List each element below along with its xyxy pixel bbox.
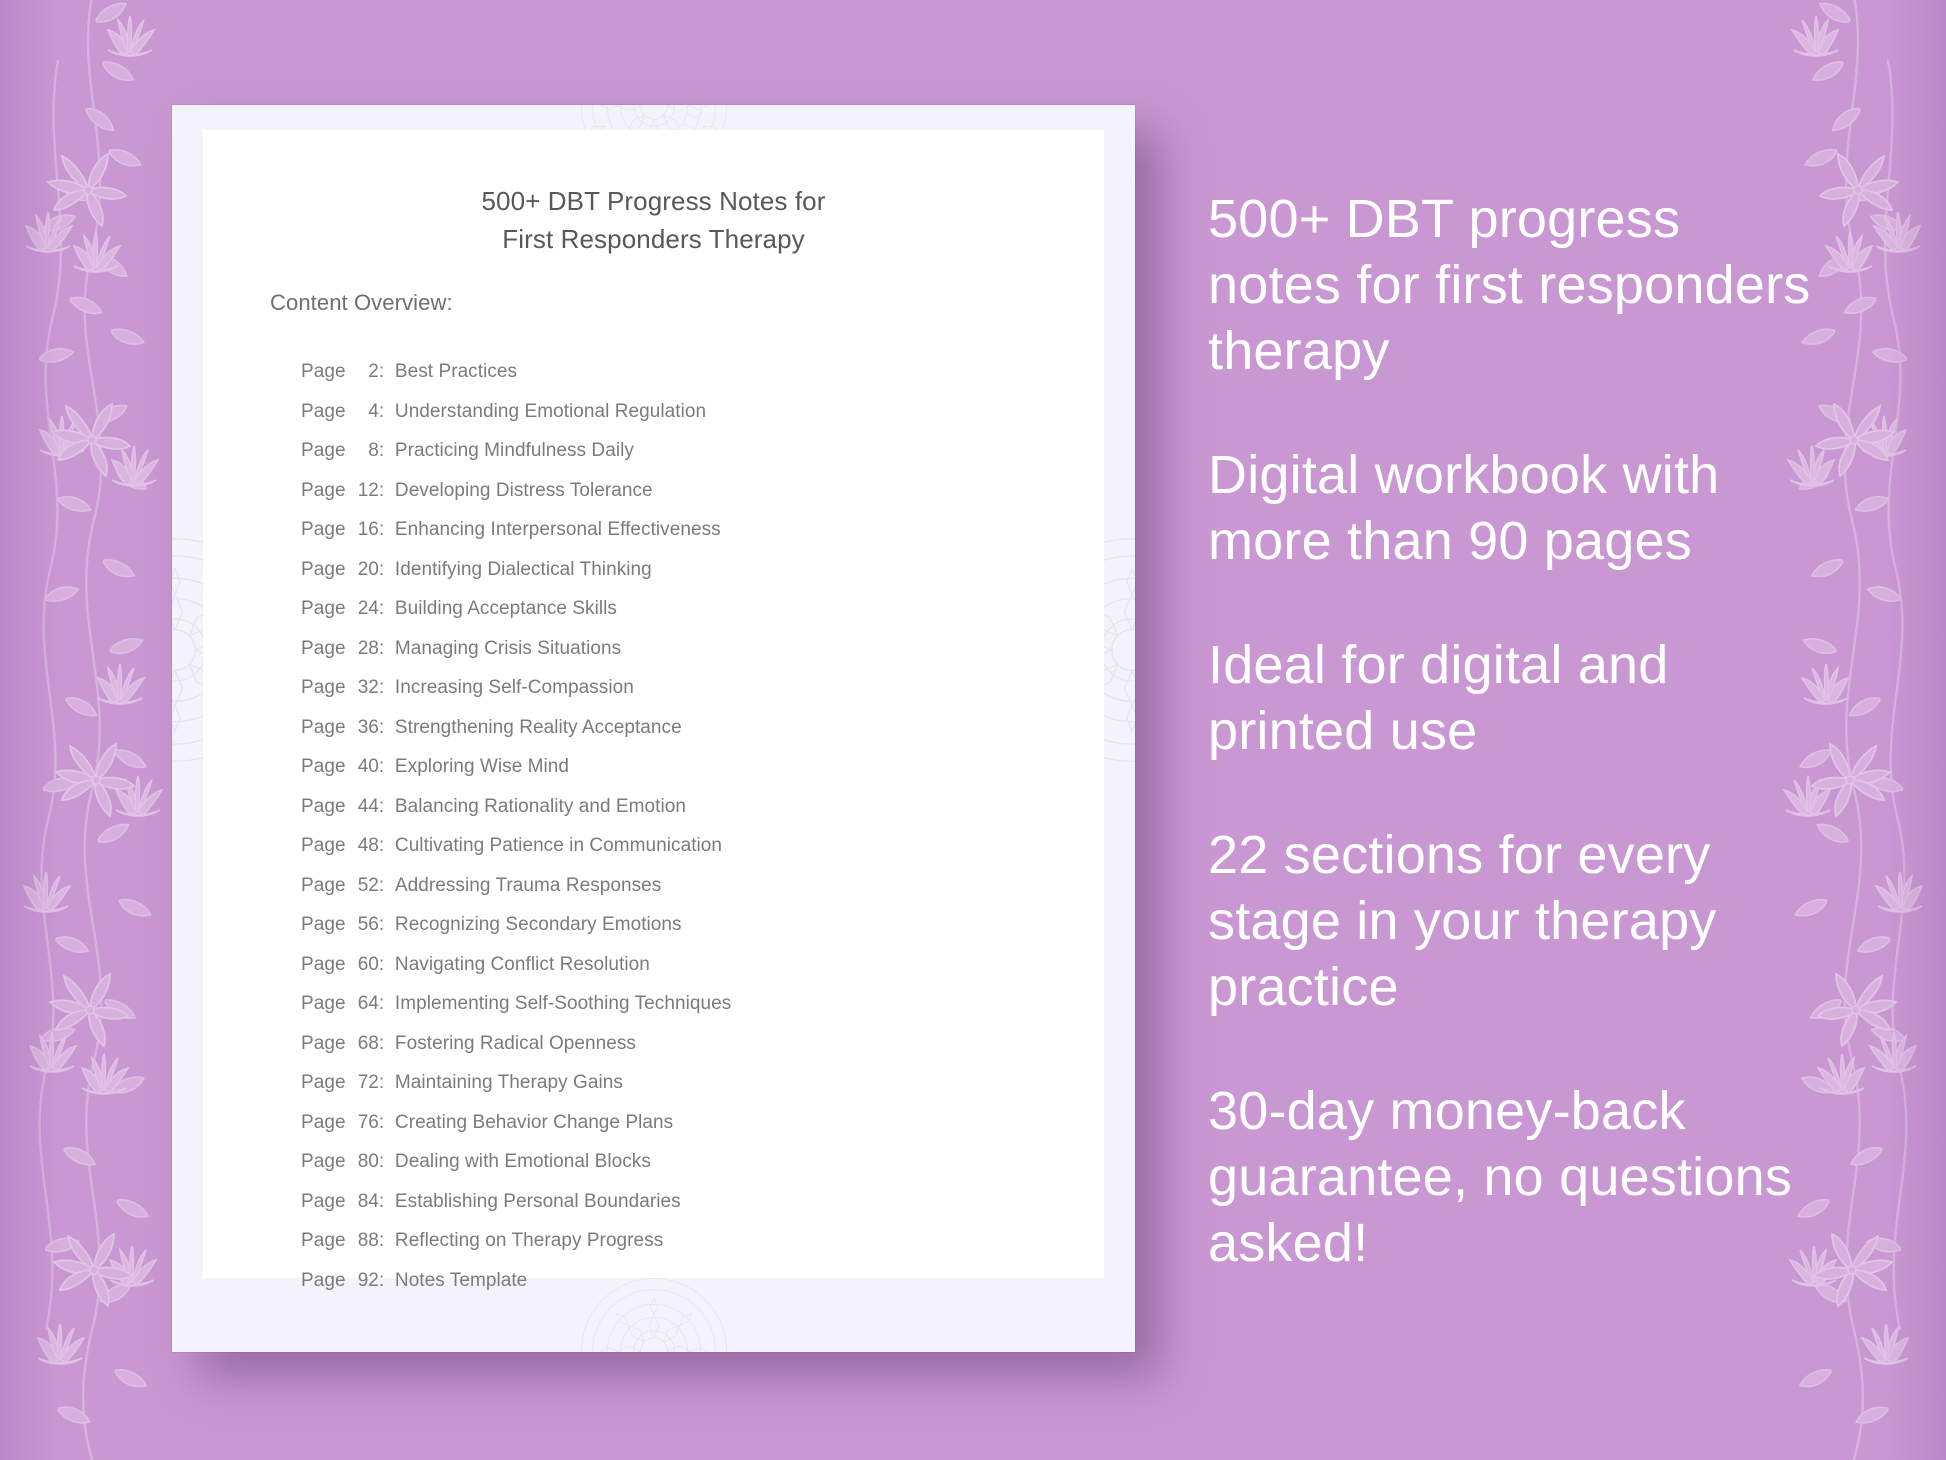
toc-page-word: Page — [301, 1103, 346, 1143]
toc-page-number: 2 — [351, 352, 379, 392]
toc-colon: : — [379, 984, 395, 1024]
toc-page-word: Page — [301, 1182, 346, 1222]
toc-page-word: Page — [301, 1221, 346, 1261]
toc-section-title: Understanding Emotional Regulation — [395, 392, 706, 432]
toc-page-number: 88 — [351, 1221, 379, 1261]
toc-page-word: Page — [301, 510, 346, 550]
toc-page-word: Page — [301, 708, 346, 748]
toc-section-title: Navigating Conflict Resolution — [395, 945, 650, 985]
toc-page-number: 60 — [351, 945, 379, 985]
toc-colon: : — [379, 1103, 395, 1143]
toc-section-title: Practicing Mindfulness Daily — [395, 431, 634, 471]
toc-colon: : — [379, 905, 395, 945]
toc-page-word: Page — [301, 392, 346, 432]
toc-colon: : — [379, 1221, 395, 1261]
content-overview-label: Content Overview: — [270, 290, 453, 316]
toc-page-word: Page — [301, 866, 346, 906]
toc-section-title: Managing Crisis Situations — [395, 629, 621, 669]
toc-row: Page 84:Establishing Personal Boundaries — [301, 1182, 1084, 1222]
toc-colon: : — [379, 1182, 395, 1222]
toc-row: Page 28:Managing Crisis Situations — [301, 629, 1084, 669]
toc-colon: : — [379, 945, 395, 985]
toc-page-number: 52 — [351, 866, 379, 906]
toc-section-title: Increasing Self-Compassion — [395, 668, 634, 708]
toc-row: Page 4:Understanding Emotional Regulatio… — [301, 392, 1084, 432]
toc-row: Page 24:Building Acceptance Skills — [301, 589, 1084, 629]
toc-row: Page 64:Implementing Self-Soothing Techn… — [301, 984, 1084, 1024]
toc-page-word: Page — [301, 787, 346, 827]
toc-section-title: Recognizing Secondary Emotions — [395, 905, 682, 945]
toc-page-number: 32 — [351, 668, 379, 708]
toc-colon: : — [379, 629, 395, 669]
promo-block: Digital workbook with more than 90 pages — [1208, 442, 1818, 574]
toc-page-word: Page — [301, 945, 346, 985]
toc-section-title: Exploring Wise Mind — [395, 747, 569, 787]
toc-page-number: 16 — [351, 510, 379, 550]
toc-colon: : — [379, 1261, 395, 1301]
toc-colon: : — [379, 550, 395, 590]
toc-page-word: Page — [301, 1142, 346, 1182]
toc-page-word: Page — [301, 747, 346, 787]
toc-colon: : — [379, 352, 395, 392]
toc-section-title: Addressing Trauma Responses — [395, 866, 661, 906]
toc-section-title: Identifying Dialectical Thinking — [395, 550, 652, 590]
toc-page-word: Page — [301, 1024, 346, 1064]
toc-section-title: Fostering Radical Openness — [395, 1024, 636, 1064]
toc-row: Page 76:Creating Behavior Change Plans — [301, 1103, 1084, 1143]
toc-row: Page 40:Exploring Wise Mind — [301, 747, 1084, 787]
toc-section-title: Strengthening Reality Acceptance — [395, 708, 682, 748]
toc-row: Page 44:Balancing Rationality and Emotio… — [301, 787, 1084, 827]
toc-row: Page 16:Enhancing Interpersonal Effectiv… — [301, 510, 1084, 550]
toc-page-number: 28 — [351, 629, 379, 669]
toc-page-word: Page — [301, 1063, 346, 1103]
toc-section-title: Enhancing Interpersonal Effectiveness — [395, 510, 721, 550]
toc-section-title: Implementing Self-Soothing Techniques — [395, 984, 731, 1024]
toc-page-number: 40 — [351, 747, 379, 787]
toc-colon: : — [379, 866, 395, 906]
toc-page-number: 56 — [351, 905, 379, 945]
toc-page-number: 84 — [351, 1182, 379, 1222]
document-title: 500+ DBT Progress Notes for First Respon… — [203, 182, 1104, 258]
toc-colon: : — [379, 1063, 395, 1103]
toc-row: Page 48:Cultivating Patience in Communic… — [301, 826, 1084, 866]
toc-section-title: Best Practices — [395, 352, 517, 392]
toc-row: Page 68:Fostering Radical Openness — [301, 1024, 1084, 1064]
toc-section-title: Balancing Rationality and Emotion — [395, 787, 686, 827]
promo-text-column: 500+ DBT progress notes for first respon… — [1208, 186, 1818, 1276]
toc-row: Page 36:Strengthening Reality Acceptance — [301, 708, 1084, 748]
toc-colon: : — [379, 1024, 395, 1064]
toc-colon: : — [379, 471, 395, 511]
toc-section-title: Maintaining Therapy Gains — [395, 1063, 623, 1103]
toc-section-title: Reflecting on Therapy Progress — [395, 1221, 663, 1261]
toc-page-word: Page — [301, 1261, 346, 1301]
toc-section-title: Establishing Personal Boundaries — [395, 1182, 681, 1222]
toc-page-number: 76 — [351, 1103, 379, 1143]
toc-section-title: Building Acceptance Skills — [395, 589, 617, 629]
toc-page-number: 8 — [351, 431, 379, 471]
toc-colon: : — [379, 787, 395, 827]
toc-page-number: 64 — [351, 984, 379, 1024]
toc-page-word: Page — [301, 905, 346, 945]
toc-row: Page 72:Maintaining Therapy Gains — [301, 1063, 1084, 1103]
toc-page-number: 72 — [351, 1063, 379, 1103]
toc-colon: : — [379, 589, 395, 629]
toc-page-number: 44 — [351, 787, 379, 827]
promo-block: Ideal for digital and printed use — [1208, 632, 1818, 764]
toc-page-number: 80 — [351, 1142, 379, 1182]
toc-page-number: 12 — [351, 471, 379, 511]
toc-row: Page 88:Reflecting on Therapy Progress — [301, 1221, 1084, 1261]
toc-page-word: Page — [301, 471, 346, 511]
toc-row: Page 20:Identifying Dialectical Thinking — [301, 550, 1084, 590]
toc-page-word: Page — [301, 668, 346, 708]
toc-row: Page 52:Addressing Trauma Responses — [301, 866, 1084, 906]
promo-block: 30-day money-back guarantee, no question… — [1208, 1078, 1818, 1276]
toc-colon: : — [379, 392, 395, 432]
promo-block: 22 sections for every stage in your ther… — [1208, 822, 1818, 1020]
toc-page-word: Page — [301, 550, 346, 590]
toc-section-title: Cultivating Patience in Communication — [395, 826, 722, 866]
toc-row: Page 80:Dealing with Emotional Blocks — [301, 1142, 1084, 1182]
toc-colon: : — [379, 826, 395, 866]
toc-row: Page 92:Notes Template — [301, 1261, 1084, 1301]
toc-page-number: 4 — [351, 392, 379, 432]
table-of-contents: Page 2:Best PracticesPage 4:Understandin… — [301, 352, 1084, 1300]
toc-page-word: Page — [301, 826, 346, 866]
toc-row: Page 8:Practicing Mindfulness Daily — [301, 431, 1084, 471]
toc-page-word: Page — [301, 589, 346, 629]
toc-page-number: 48 — [351, 826, 379, 866]
toc-section-title: Developing Distress Tolerance — [395, 471, 653, 511]
toc-colon: : — [379, 431, 395, 471]
toc-row: Page 56:Recognizing Secondary Emotions — [301, 905, 1084, 945]
toc-page-word: Page — [301, 984, 346, 1024]
toc-section-title: Dealing with Emotional Blocks — [395, 1142, 651, 1182]
toc-page-word: Page — [301, 629, 346, 669]
floral-vine-border-left — [0, 0, 176, 1460]
toc-row: Page 32:Increasing Self-Compassion — [301, 668, 1084, 708]
toc-colon: : — [379, 668, 395, 708]
toc-row: Page 12:Developing Distress Tolerance — [301, 471, 1084, 511]
toc-page-number: 20 — [351, 550, 379, 590]
toc-colon: : — [379, 747, 395, 787]
toc-section-title: Creating Behavior Change Plans — [395, 1103, 673, 1143]
toc-page-number: 68 — [351, 1024, 379, 1064]
promo-block: 500+ DBT progress notes for first respon… — [1208, 186, 1818, 384]
toc-row: Page 60:Navigating Conflict Resolution — [301, 945, 1084, 985]
toc-page-number: 36 — [351, 708, 379, 748]
document-preview-card[interactable]: 500+ DBT Progress Notes for First Respon… — [172, 105, 1135, 1352]
toc-colon: : — [379, 708, 395, 748]
toc-colon: : — [379, 510, 395, 550]
toc-colon: : — [379, 1142, 395, 1182]
toc-page-number: 24 — [351, 589, 379, 629]
document-page: 500+ DBT Progress Notes for First Respon… — [203, 130, 1104, 1278]
toc-page-word: Page — [301, 352, 346, 392]
toc-row: Page 2:Best Practices — [301, 352, 1084, 392]
toc-page-number: 92 — [351, 1261, 379, 1301]
toc-section-title: Notes Template — [395, 1261, 527, 1301]
toc-page-word: Page — [301, 431, 346, 471]
